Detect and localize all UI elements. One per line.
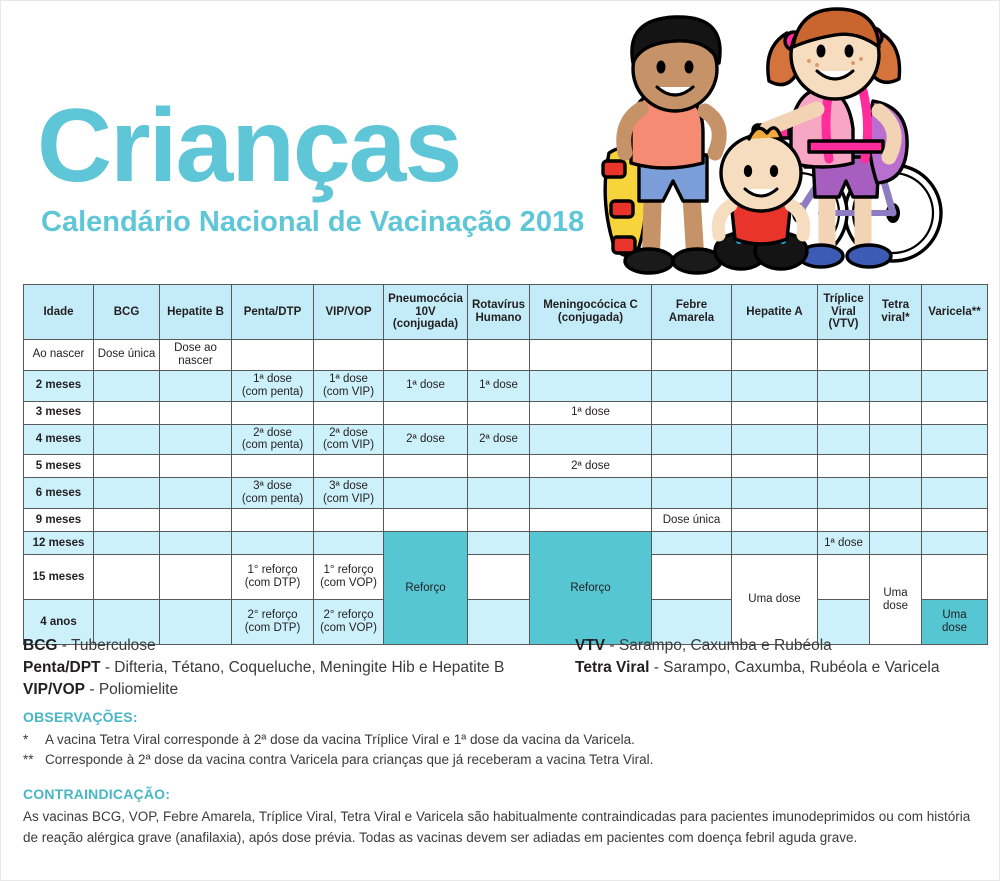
cell-triplice <box>818 455 870 478</box>
cell-vip <box>314 509 384 532</box>
observation-marker: ** <box>23 750 45 770</box>
cell-bcg: Dose única <box>94 340 160 371</box>
cell-rota <box>468 340 530 371</box>
cell-hepa <box>732 532 818 555</box>
cell-age: 15 meses <box>24 555 94 600</box>
cell-triplice <box>818 555 870 600</box>
observation-text: A vacina Tetra Viral corresponde à 2ª do… <box>45 730 635 750</box>
cell-mening-reforco: Reforço <box>530 532 652 645</box>
cell-hepatite-b: Dose ao nascer <box>160 340 232 371</box>
cell-triplice <box>818 424 870 455</box>
cell-febre <box>652 401 732 424</box>
cell-hepatite-b <box>160 509 232 532</box>
cell-tetra <box>870 370 922 401</box>
col-header-hepatite-b: Hepatite B <box>160 285 232 340</box>
cell-rota <box>468 478 530 509</box>
cell-triplice <box>818 509 870 532</box>
cell-bcg <box>94 370 160 401</box>
cell-tetra <box>870 532 922 555</box>
cell-hepa <box>732 478 818 509</box>
cell-age: 6 meses <box>24 478 94 509</box>
col-header-bcg: BCG <box>94 285 160 340</box>
cell-hepa <box>732 370 818 401</box>
cell-mening <box>530 478 652 509</box>
cell-pneumo <box>384 455 468 478</box>
cell-hepa <box>732 340 818 371</box>
cell-penta <box>232 509 314 532</box>
cell-tetra <box>870 340 922 371</box>
table-row-4-meses: 4 meses 2ª dose (com penta) 2ª dose (com… <box>24 424 988 455</box>
col-header-vip-vop: VIP/VOP <box>314 285 384 340</box>
legend-sep: - <box>57 637 71 654</box>
cell-hepatite-b <box>160 532 232 555</box>
col-header-tetra-viral: Tetra viral* <box>870 285 922 340</box>
cell-tetra <box>870 401 922 424</box>
cell-bcg <box>94 478 160 509</box>
observations-title: OBSERVAÇÕES: <box>23 709 979 725</box>
legend-item: VTV - Sarampo, Caxumba e Rubéola <box>575 635 979 657</box>
cell-triplice <box>818 478 870 509</box>
cell-rota: 2ª dose <box>468 424 530 455</box>
table-row-3-meses: 3 meses 1ª dose <box>24 401 988 424</box>
col-header-rotavirus: Rotavírus Humano <box>468 285 530 340</box>
cell-varicela <box>922 370 988 401</box>
legend-sep: - <box>101 659 115 676</box>
cell-vip: 1° reforço (com VOP) <box>314 555 384 600</box>
table-row-ao-nascer: Ao nascer Dose única Dose ao nascer <box>24 340 988 371</box>
legend-item: Tetra Viral - Sarampo, Caxumba, Rubéola … <box>575 657 979 679</box>
legend-text: Difteria, Tétano, Coqueluche, Meningite … <box>114 659 504 676</box>
cell-bcg <box>94 555 160 600</box>
cell-triplice <box>818 340 870 371</box>
cell-febre <box>652 424 732 455</box>
cell-hepatite-a-uma-dose: Uma dose <box>732 555 818 645</box>
legend-column-right: VTV - Sarampo, Caxumba e Rubéola Tetra V… <box>575 635 979 701</box>
cell-bcg <box>94 509 160 532</box>
contraindication-body: As vacinas BCG, VOP, Febre Amarela, Tríp… <box>23 807 981 848</box>
cell-age: 9 meses <box>24 509 94 532</box>
cell-tetra <box>870 424 922 455</box>
legend-abbr: VTV <box>575 637 605 654</box>
legend-sep: - <box>605 637 619 654</box>
cell-rota <box>468 532 530 555</box>
cell-penta <box>232 401 314 424</box>
cell-vip <box>314 340 384 371</box>
cell-rota: 1ª dose <box>468 370 530 401</box>
contraindication-title: CONTRAINDICAÇÃO: <box>23 786 981 802</box>
table-row-9-meses: 9 meses Dose única <box>24 509 988 532</box>
legend-text: Tuberculose <box>71 637 156 654</box>
cell-penta <box>232 340 314 371</box>
observation-item: ** Corresponde à 2ª dose da vacina contr… <box>23 750 979 770</box>
observation-marker: * <box>23 730 45 750</box>
cell-hepatite-b <box>160 401 232 424</box>
col-header-meningococica-c: Meningocócica C (conjugada) <box>530 285 652 340</box>
cell-mening <box>530 340 652 371</box>
legend-abbr: VIP/VOP <box>23 681 85 698</box>
cell-vip <box>314 401 384 424</box>
cell-hepa <box>732 509 818 532</box>
title-block: Crianças Calendário Nacional de Vacinaçã… <box>37 97 637 239</box>
cell-pneumo <box>384 509 468 532</box>
legend-column-left: BCG - Tuberculose Penta/DPT - Difteria, … <box>23 635 575 701</box>
cell-mening <box>530 424 652 455</box>
cell-febre <box>652 532 732 555</box>
cell-rota <box>468 555 530 600</box>
cell-bcg <box>94 401 160 424</box>
cell-mening <box>530 509 652 532</box>
table-row-6-meses: 6 meses 3ª dose (com penta) 3ª dose (com… <box>24 478 988 509</box>
legend-abbr: Penta/DPT <box>23 659 101 676</box>
table-row-12-meses: 12 meses Reforço Reforço 1ª dose <box>24 532 988 555</box>
cell-febre <box>652 555 732 600</box>
legend-text: Poliomielite <box>99 681 178 698</box>
cell-vip: 3ª dose (com VIP) <box>314 478 384 509</box>
page-title: Crianças <box>37 97 637 196</box>
cell-bcg <box>94 424 160 455</box>
cell-bcg <box>94 532 160 555</box>
vaccination-calendar-page: Crianças Calendário Nacional de Vacinaçã… <box>0 0 1000 881</box>
page-header: Crianças Calendário Nacional de Vacinaçã… <box>1 1 999 273</box>
cell-hepatite-b <box>160 424 232 455</box>
cell-vip <box>314 532 384 555</box>
cell-mening: 2ª dose <box>530 455 652 478</box>
cell-age: 2 meses <box>24 370 94 401</box>
cell-pneumo <box>384 478 468 509</box>
col-header-febre-amarela: Febre Amarela <box>652 285 732 340</box>
legend-item: VIP/VOP - Poliomielite <box>23 679 575 701</box>
table-row-15-meses: 15 meses 1° reforço (com DTP) 1° reforço… <box>24 555 988 600</box>
legend-abbr: Tetra Viral <box>575 659 649 676</box>
cell-febre <box>652 478 732 509</box>
vaccination-schedule-table-wrapper: Idade BCG Hepatite B Penta/DTP VIP/VOP <box>23 284 975 645</box>
cell-tetra <box>870 455 922 478</box>
abbreviation-legend: BCG - Tuberculose Penta/DPT - Difteria, … <box>23 635 979 701</box>
cell-tetra-uma-dose: Uma dose <box>870 555 922 645</box>
cell-vip: 2ª dose (com VIP) <box>314 424 384 455</box>
cell-tetra <box>870 478 922 509</box>
cell-hepatite-b <box>160 478 232 509</box>
col-header-hepatite-a: Hepatite A <box>732 285 818 340</box>
cell-pneumo: 1ª dose <box>384 370 468 401</box>
cell-penta: 2ª dose (com penta) <box>232 424 314 455</box>
vaccination-schedule-table: Idade BCG Hepatite B Penta/DTP VIP/VOP <box>23 284 988 645</box>
cell-varicela <box>922 401 988 424</box>
cell-bcg <box>94 455 160 478</box>
legend-sep: - <box>85 681 99 698</box>
cell-hepa <box>732 455 818 478</box>
cell-age: 12 meses <box>24 532 94 555</box>
cell-febre: Dose única <box>652 509 732 532</box>
col-header-varicela: Varicela** <box>922 285 988 340</box>
page-subtitle: Calendário Nacional de Vacinação 2018 <box>41 206 637 239</box>
cell-pneumo <box>384 401 468 424</box>
cell-age: 5 meses <box>24 455 94 478</box>
legend-item: Penta/DPT - Difteria, Tétano, Coqueluche… <box>23 657 575 679</box>
cell-penta: 1° reforço (com DTP) <box>232 555 314 600</box>
contraindication-section: CONTRAINDICAÇÃO: As vacinas BCG, VOP, Fe… <box>23 786 981 848</box>
cell-rota <box>468 455 530 478</box>
cell-hepatite-b <box>160 555 232 600</box>
cell-febre <box>652 455 732 478</box>
cell-penta: 1ª dose (com penta) <box>232 370 314 401</box>
col-header-triplice-viral: Tríplice Viral (VTV) <box>818 285 870 340</box>
col-header-idade: Idade <box>24 285 94 340</box>
col-header-pneumococica: Pneumocócia 10V (conjugada) <box>384 285 468 340</box>
observation-text: Corresponde à 2ª dose da vacina contra V… <box>45 750 653 770</box>
cell-pneumo <box>384 340 468 371</box>
cell-hepa <box>732 424 818 455</box>
cell-varicela <box>922 478 988 509</box>
cell-febre <box>652 340 732 371</box>
cell-varicela <box>922 555 988 600</box>
observation-item: * A vacina Tetra Viral corresponde à 2ª … <box>23 730 979 750</box>
col-header-penta-dtp: Penta/DTP <box>232 285 314 340</box>
cell-mening <box>530 370 652 401</box>
cell-varicela <box>922 455 988 478</box>
cell-triplice: 1ª dose <box>818 532 870 555</box>
cell-vip <box>314 455 384 478</box>
cell-age: 3 meses <box>24 401 94 424</box>
cell-hepatite-b <box>160 370 232 401</box>
cell-varicela <box>922 424 988 455</box>
legend-abbr: BCG <box>23 637 57 654</box>
cell-mening: 1ª dose <box>530 401 652 424</box>
legend-text: Sarampo, Caxumba, Rubéola e Varicela <box>663 659 939 676</box>
cell-rota <box>468 509 530 532</box>
observations-section: OBSERVAÇÕES: * A vacina Tetra Viral corr… <box>23 709 979 769</box>
legend-item: BCG - Tuberculose <box>23 635 575 657</box>
cell-penta: 3ª dose (com penta) <box>232 478 314 509</box>
cell-penta <box>232 532 314 555</box>
cell-varicela <box>922 532 988 555</box>
cell-age: 4 meses <box>24 424 94 455</box>
cell-vip: 1ª dose (com VIP) <box>314 370 384 401</box>
table-row-2-meses: 2 meses 1ª dose (com penta) 1ª dose (com… <box>24 370 988 401</box>
cell-triplice <box>818 370 870 401</box>
cell-tetra <box>870 509 922 532</box>
table-header-row: Idade BCG Hepatite B Penta/DTP VIP/VOP <box>24 285 988 340</box>
cell-varicela <box>922 340 988 371</box>
cell-hepa <box>732 401 818 424</box>
cell-pneumo: 2ª dose <box>384 424 468 455</box>
cell-varicela <box>922 509 988 532</box>
table-row-5-meses: 5 meses 2ª dose <box>24 455 988 478</box>
legend-sep: - <box>649 659 663 676</box>
cell-triplice <box>818 401 870 424</box>
legend-text: Sarampo, Caxumba e Rubéola <box>619 637 832 654</box>
three-children-illustration <box>591 5 991 280</box>
cell-hepatite-b <box>160 455 232 478</box>
cell-penta <box>232 455 314 478</box>
cell-age: Ao nascer <box>24 340 94 371</box>
cell-rota <box>468 401 530 424</box>
cell-febre <box>652 370 732 401</box>
cell-pneumo-reforco: Reforço <box>384 532 468 645</box>
